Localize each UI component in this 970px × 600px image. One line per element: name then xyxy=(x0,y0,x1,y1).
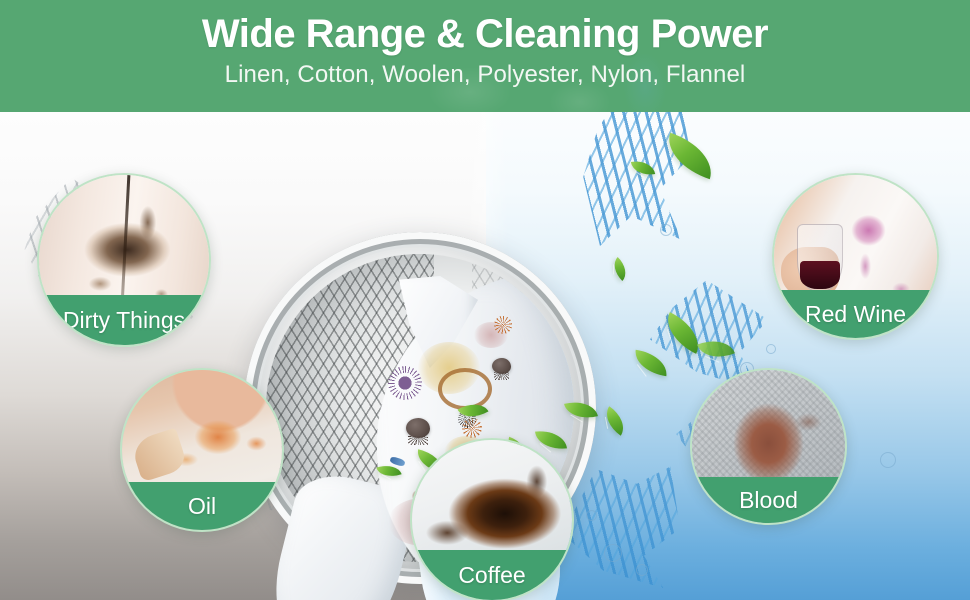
page-title: Wide Range & Cleaning Power xyxy=(202,13,768,55)
badge-label: Coffee xyxy=(458,564,525,587)
water-bubble xyxy=(660,224,672,236)
water-bubble xyxy=(636,564,648,576)
badge-label: Oil xyxy=(188,495,216,518)
badge-label-band: Oil xyxy=(122,482,282,530)
badge-label: Red Wine xyxy=(805,303,906,326)
page-subtitle: Linen, Cotton, Woolen, Polyester, Nylon,… xyxy=(225,61,746,89)
badge-oil[interactable]: Oil xyxy=(120,368,284,532)
header-banner: Wide Range & Cleaning Power Linen, Cotto… xyxy=(0,0,970,112)
badge-label-band: Blood xyxy=(692,477,845,523)
promo-banner: Wide Range & Cleaning Power Linen, Cotto… xyxy=(0,0,970,600)
badge-label: Dirty Things xyxy=(63,309,185,332)
badge-blood[interactable]: Blood xyxy=(690,368,847,525)
badge-label: Blood xyxy=(739,489,798,512)
wine-glass-icon xyxy=(797,224,843,292)
badge-coffee[interactable]: Coffee xyxy=(410,438,574,600)
badge-label-band: Coffee xyxy=(412,550,572,600)
badge-label-band: Dirty Things xyxy=(39,295,209,345)
water-bubble xyxy=(766,344,776,354)
badge-dirty-things[interactable]: Dirty Things xyxy=(37,173,211,347)
water-bubble xyxy=(880,452,896,468)
scene-area: Dirty Things Oil Coffee Blood xyxy=(0,112,970,600)
badge-red-wine[interactable]: Red Wine xyxy=(772,173,939,340)
water-bubble xyxy=(604,544,622,562)
badge-label-band: Red Wine xyxy=(774,290,937,338)
wine-liquid xyxy=(800,261,840,289)
